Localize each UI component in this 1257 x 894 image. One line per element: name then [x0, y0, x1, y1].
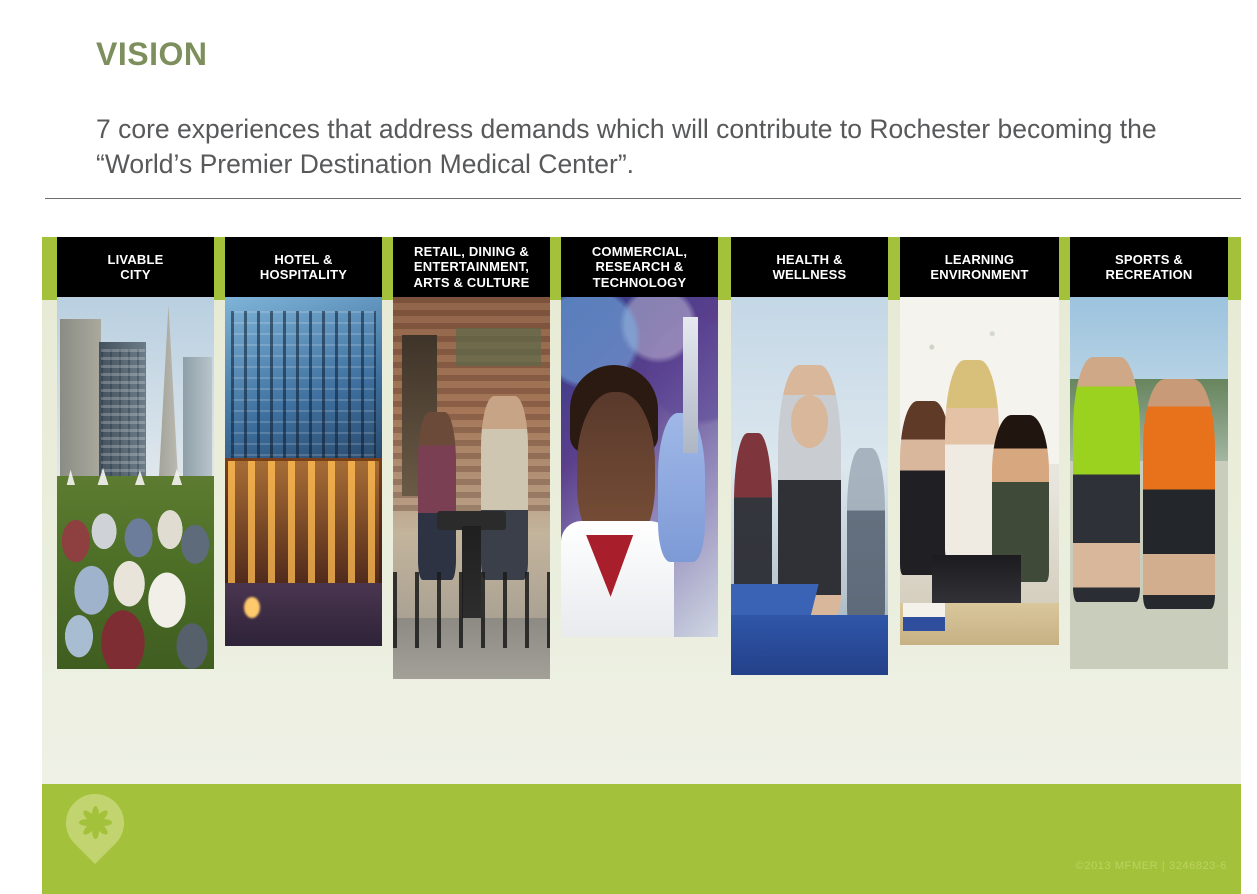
experience-header-sports-recreation: SPORTS & RECREATION	[1070, 237, 1228, 297]
experience-header-commercial-research: COMMERCIAL, RESEARCH & TECHNOLOGY	[561, 237, 718, 297]
header-line-2: ENVIRONMENT	[930, 267, 1028, 282]
experience-columns: LIVABLE CITY	[42, 237, 1241, 784]
experience-column-commercial-research[interactable]: COMMERCIAL, RESEARCH & TECHNOLOGY	[561, 237, 718, 637]
experience-column-hotel-hospitality[interactable]: HOTEL & HOSPITALITY	[225, 237, 382, 646]
slide-subtitle: 7 core experiences that address demands …	[96, 112, 1231, 182]
map-pin-flower-logo	[66, 794, 132, 876]
experience-photo-commercial-research	[561, 297, 718, 637]
header-line-1: COMMERCIAL,	[592, 244, 687, 259]
experience-header-hotel-hospitality: HOTEL & HOSPITALITY	[225, 237, 382, 297]
header-line-1: SPORTS &	[1115, 252, 1183, 267]
experience-header-health-wellness: HEALTH & WELLNESS	[731, 237, 888, 297]
experience-header-learning-environment: LEARNING ENVIRONMENT	[900, 237, 1059, 297]
header-line-2: WELLNESS	[773, 267, 847, 282]
slide: VISION 7 core experiences that address d…	[0, 0, 1257, 894]
flower-burst-icon	[78, 805, 112, 839]
experience-column-learning-environment[interactable]: LEARNING ENVIRONMENT	[900, 237, 1059, 645]
experience-photo-learning-environment	[900, 297, 1059, 645]
experience-header-retail-dining: RETAIL, DINING & ENTERTAINMENT, ARTS & C…	[393, 237, 550, 297]
header-line-1: RETAIL, DINING &	[414, 244, 529, 259]
header-line-2: RECREATION	[1106, 267, 1193, 282]
experience-column-health-wellness[interactable]: HEALTH & WELLNESS	[731, 237, 888, 675]
experience-column-livable-city[interactable]: LIVABLE CITY	[57, 237, 214, 669]
header-line-1: LEARNING	[945, 252, 1015, 267]
experience-column-retail-dining[interactable]: RETAIL, DINING & ENTERTAINMENT, ARTS & C…	[393, 237, 550, 679]
experience-header-livable-city: LIVABLE CITY	[57, 237, 214, 297]
header-line-1: HOTEL &	[274, 252, 332, 267]
header-line-3: ARTS & CULTURE	[414, 275, 530, 290]
experience-photo-retail-dining	[393, 297, 550, 679]
experience-column-sports-recreation[interactable]: SPORTS & RECREATION	[1070, 237, 1228, 669]
header-line-2: HOSPITALITY	[260, 267, 347, 282]
footer-bar: ©2013 MFMER | 3246823-6	[42, 784, 1241, 894]
header-line-2: CITY	[120, 267, 150, 282]
header-line-2: ENTERTAINMENT,	[414, 259, 529, 274]
experience-photo-hotel-hospitality	[225, 297, 382, 646]
header-line-3: TECHNOLOGY	[593, 275, 687, 290]
experience-photo-health-wellness	[731, 297, 888, 675]
experience-photo-livable-city	[57, 297, 214, 669]
header-line-1: HEALTH &	[776, 252, 842, 267]
header-divider	[45, 198, 1241, 199]
page-title: VISION	[96, 36, 207, 73]
header-line-2: RESEARCH &	[596, 259, 684, 274]
copyright-credit: ©2013 MFMER | 3246823-6	[1076, 860, 1227, 872]
experience-photo-sports-recreation	[1070, 297, 1228, 669]
header-line-1: LIVABLE	[107, 252, 163, 267]
